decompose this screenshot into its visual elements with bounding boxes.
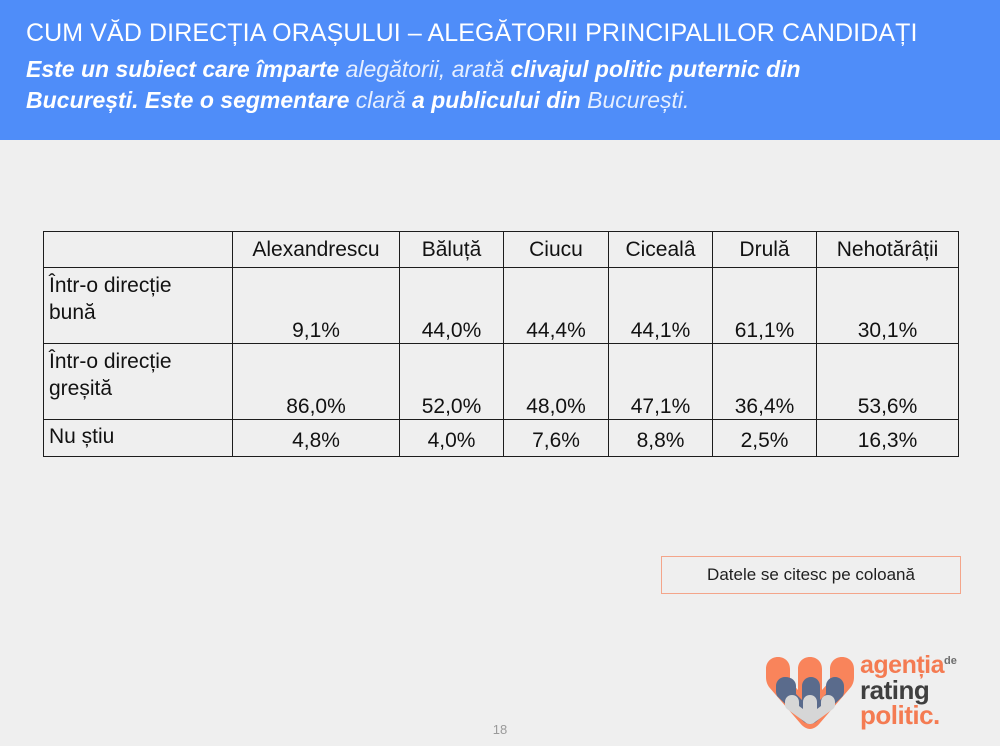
logo-line-rating: rating — [860, 679, 957, 702]
cell-buna-alexandrescu: 9,1% — [233, 268, 400, 344]
column-header-alexandrescu: Alexandrescu — [233, 232, 400, 268]
column-header-drula: Drulă — [713, 232, 817, 268]
row-label-line-1: Într-o direcție — [49, 272, 224, 299]
cell-nustiu-ciucu: 7,6% — [504, 420, 609, 457]
column-header-baluta: Băluță — [400, 232, 504, 268]
agentia-rating-politic-mark-icon — [766, 651, 854, 731]
reading-note-text: Datele se citesc pe coloană — [707, 565, 915, 585]
page-number: 18 — [0, 722, 1000, 737]
subtitle-seg-3: clivajul politic puternic din — [511, 56, 801, 82]
cell-nustiu-alexandrescu: 4,8% — [233, 420, 400, 457]
column-header-nehotaratii: Nehotărâții — [817, 232, 959, 268]
subtitle-seg-7: București. — [587, 87, 689, 113]
cell-gresita-ciucu: 48,0% — [504, 344, 609, 420]
slide-subtitle: Este un subiect care împarte alegătorii,… — [26, 54, 906, 116]
row-label-nu-stiu: Nu știu — [44, 420, 233, 457]
table-header-row: Alexandrescu Băluță Ciucu Cicealâ Drulă … — [44, 232, 959, 268]
table-row: Într-o direcție bună 9,1% 44,0% 44,4% 44… — [44, 268, 959, 344]
row-label-line-1: Nu știu — [49, 427, 224, 447]
cell-nustiu-nehotaratii: 16,3% — [817, 420, 959, 457]
logo-wordmark: agențiade rating politic. — [860, 654, 957, 727]
row-label-directie-gresita: Într-o direcție greșită — [44, 344, 233, 420]
cell-buna-baluta: 44,0% — [400, 268, 504, 344]
logo-word-de: de — [944, 655, 957, 667]
logo-line-agentia: agențiade — [860, 654, 957, 677]
slide-header-band: CUM VĂD DIRECȚIA ORAȘULUI – ALEGĂTORII P… — [0, 0, 1000, 140]
table-row: Nu știu 4,8% 4,0% 7,6% 8,8% 2,5% 16,3% — [44, 420, 959, 457]
row-label-line-1: Într-o direcție — [49, 348, 224, 375]
cell-buna-nehotaratii: 30,1% — [817, 268, 959, 344]
cell-gresita-nehotaratii: 53,6% — [817, 344, 959, 420]
row-label-line-2: greșită — [49, 375, 224, 402]
row-label-line-2: bună — [49, 299, 224, 326]
row-label-directie-buna: Într-o direcție bună — [44, 268, 233, 344]
subtitle-seg-1: Este un subiect care împarte — [26, 56, 346, 82]
page-title: CUM VĂD DIRECȚIA ORAȘULUI – ALEGĂTORII P… — [26, 18, 974, 48]
subtitle-seg-2: alegătorii, arată — [346, 56, 511, 82]
reading-note-box: Datele se citesc pe coloană — [661, 556, 961, 594]
direction-perception-table: Alexandrescu Băluță Ciucu Cicealâ Drulă … — [43, 231, 959, 457]
column-header-cicealâ: Cicealâ — [609, 232, 713, 268]
cell-buna-drula: 61,1% — [713, 268, 817, 344]
table-body: Într-o direcție bună 9,1% 44,0% 44,4% 44… — [44, 268, 959, 457]
table-row: Într-o direcție greșită 86,0% 52,0% 48,0… — [44, 344, 959, 420]
cell-nustiu-baluta: 4,0% — [400, 420, 504, 457]
cell-gresita-drula: 36,4% — [713, 344, 817, 420]
subtitle-seg-6: a publicului din — [412, 87, 587, 113]
data-table-container: Alexandrescu Băluță Ciucu Cicealâ Drulă … — [43, 231, 958, 457]
subtitle-seg-4: București. Este o segmentare — [26, 87, 356, 113]
cell-gresita-alexandrescu: 86,0% — [233, 344, 400, 420]
brand-logo: agențiade rating politic. — [766, 650, 981, 732]
table-corner-cell — [44, 232, 233, 268]
cell-gresita-baluta: 52,0% — [400, 344, 504, 420]
column-header-ciucu: Ciucu — [504, 232, 609, 268]
cell-gresita-cicealâ: 47,1% — [609, 344, 713, 420]
cell-nustiu-cicealâ: 8,8% — [609, 420, 713, 457]
cell-buna-ciucu: 44,4% — [504, 268, 609, 344]
cell-nustiu-drula: 2,5% — [713, 420, 817, 457]
cell-buna-cicealâ: 44,1% — [609, 268, 713, 344]
table-header: Alexandrescu Băluță Ciucu Cicealâ Drulă … — [44, 232, 959, 268]
subtitle-seg-5: clară — [356, 87, 412, 113]
